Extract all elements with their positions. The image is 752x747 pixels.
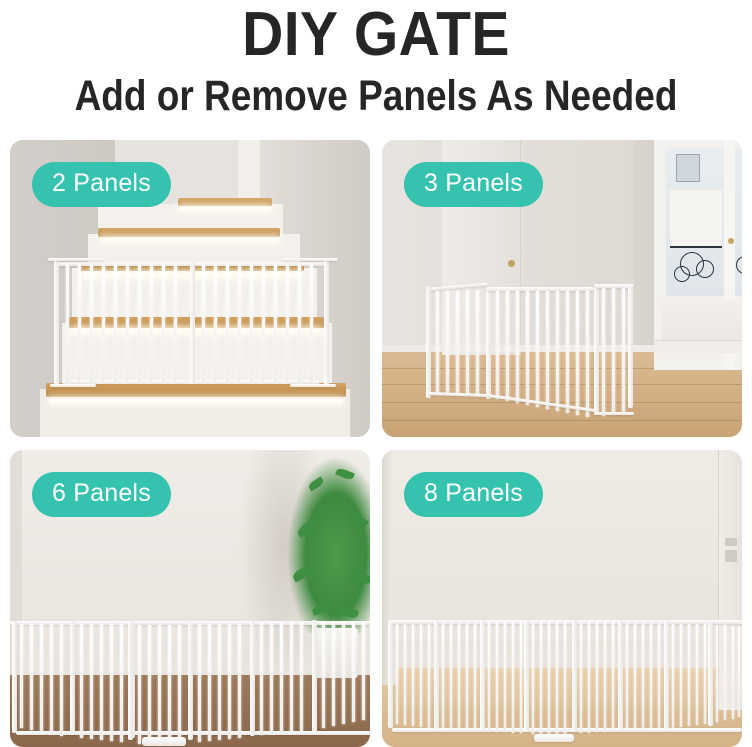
gate-spindle [420, 624, 422, 727]
gate-spindle [262, 264, 265, 382]
gate-spindle [622, 288, 625, 412]
photo-6-panels: 6 Panels [10, 450, 370, 747]
gate-post-right [628, 286, 633, 408]
gate-spindle [506, 291, 509, 401]
gate-post-2 [434, 621, 439, 729]
gate-spindle [202, 264, 205, 382]
stair-nosing-2 [98, 228, 280, 237]
gate-spindle [436, 291, 439, 395]
gate-spindle [40, 624, 43, 732]
gate-door-post-left [524, 620, 529, 732]
stair-nosing-1 [178, 198, 272, 206]
gate-spindle [102, 264, 105, 382]
header: DIY GATE Add or Remove Panels As Needed [0, 0, 752, 128]
gate-spindle [300, 623, 303, 731]
safety-gate-6-panels [10, 615, 370, 747]
gate-mount-foot-right [290, 384, 336, 387]
gate-post-center [190, 262, 195, 384]
gate-mount-arm-right [282, 258, 338, 261]
stair-light-2 [102, 238, 278, 241]
gate-spindle [672, 624, 674, 728]
gate-spindle [634, 623, 636, 730]
gate-spindle [540, 622, 542, 734]
building-across-street [670, 190, 722, 248]
gate-spindle [80, 624, 83, 738]
gate-spindle [214, 264, 217, 382]
gate-spindle [496, 622, 498, 732]
gate-spindle [650, 623, 652, 728]
gate-spindle [168, 625, 171, 745]
gate-spindle [404, 624, 406, 725]
safety-gate-8-panels [388, 610, 742, 745]
gate-spindle [516, 291, 519, 403]
wrought-iron-scroll [696, 260, 714, 278]
gate-spindle [446, 291, 449, 395]
wrought-iron-scroll [674, 266, 690, 282]
gate-spindle [162, 264, 165, 382]
gate-bottom-rail-right [594, 412, 634, 415]
door-latch-icon [725, 538, 737, 546]
gate-spindle [228, 624, 231, 739]
gate-spindle [556, 291, 559, 411]
window-sill [654, 340, 742, 353]
stair-light-landing [50, 399, 342, 403]
gate-mount-arm-left [48, 258, 104, 261]
gate-spindle [588, 622, 590, 733]
gate-bottom-rail-left [428, 392, 488, 397]
gate-spindle [110, 624, 113, 741]
gate-spindle [566, 291, 569, 413]
gate-post-left [54, 260, 59, 386]
gate-spindle [602, 288, 605, 416]
gate-spindle [442, 623, 444, 728]
distant-window [676, 154, 700, 182]
gate-spindle [286, 264, 289, 382]
photo-3-panels: 3 Panels [382, 140, 742, 437]
gate-spindle [488, 622, 490, 731]
gate-spindle [50, 624, 53, 734]
gate-door-post-right [572, 620, 577, 732]
gate-spindle [158, 625, 161, 745]
gate-spindle [716, 625, 718, 722]
gate-spindle [546, 291, 549, 409]
gate-spindle [270, 623, 273, 734]
gate-spindle [596, 622, 598, 732]
wrought-iron-scroll [736, 256, 742, 274]
page-subtitle: Add or Remove Panels As Needed [53, 68, 700, 120]
gate-spindle [322, 622, 325, 728]
photo-8-panels: 8 Panels [382, 450, 742, 747]
gate-spindle [458, 623, 460, 730]
badge-3-panels: 3 Panels [404, 162, 543, 207]
gate-spindle [466, 290, 469, 396]
gate-spindle [280, 623, 283, 733]
gate-spindle [556, 622, 558, 734]
gate-spindle [260, 623, 263, 735]
gate-spindle [226, 264, 229, 382]
gate-spindle [612, 622, 614, 731]
gate-post-5 [312, 620, 317, 732]
gate-post-1 [12, 621, 17, 733]
gate-spindle [126, 264, 129, 382]
safety-gate-2-panels [52, 252, 332, 397]
gate-spindle [696, 624, 698, 725]
gate-spindle [536, 291, 539, 407]
gate-spindle [174, 264, 177, 382]
gate-spindle [120, 624, 123, 742]
panel-configuration-grid: 2 Panels [10, 140, 742, 747]
gate-spindle [342, 622, 345, 724]
gate-spindle [732, 626, 734, 719]
gate-spindle [78, 264, 81, 382]
floor-seam [382, 420, 742, 421]
photo-2-panels: 2 Panels [10, 140, 370, 437]
gate-spindle [526, 291, 529, 405]
gate-spindle [580, 622, 582, 733]
gate-spindle [604, 622, 606, 732]
stair-light-1 [180, 207, 270, 210]
gate-spindle [290, 623, 293, 732]
gate-spindle [310, 264, 313, 382]
gate-latch[interactable] [142, 737, 186, 746]
gate-post-6 [664, 621, 669, 729]
gate-spindle [208, 624, 211, 741]
gate-post-hinge-2 [594, 286, 599, 414]
gate-spindle [724, 625, 726, 720]
gate-spindle [60, 624, 63, 736]
gate-spindle [576, 291, 579, 415]
gate-post-2 [70, 621, 75, 735]
gate-spindle [412, 624, 414, 726]
gate-spindle [30, 624, 33, 730]
window-glass-left [666, 148, 724, 296]
gate-spindle [474, 623, 476, 731]
gate-spindle [428, 624, 430, 728]
gate-spindle [456, 291, 459, 395]
gate-spindle [564, 622, 566, 734]
gate-spindle [138, 264, 141, 382]
gate-spindle [496, 291, 499, 399]
gate-post-7 [708, 622, 713, 726]
gate-spindle [680, 624, 682, 727]
gate-spindle [396, 624, 398, 724]
gate-post-left [426, 286, 431, 398]
door-knob-icon [508, 260, 515, 267]
gate-spindle [218, 624, 221, 740]
gate-post-4 [250, 621, 255, 736]
gate-latch[interactable] [534, 734, 574, 742]
gate-spindle [274, 264, 277, 382]
gate-spindle [504, 622, 506, 732]
gate-spindle [586, 291, 589, 417]
gate-spindle [238, 624, 241, 738]
gate-spindle [90, 624, 93, 739]
gate-spindle [100, 624, 103, 740]
window-glass-right [734, 148, 742, 296]
gate-door-post-left [128, 622, 133, 740]
gate-spindle [476, 290, 479, 396]
gate-spindle [298, 264, 301, 382]
badge-8-panels: 8 Panels [404, 472, 543, 517]
gate-bottom-rail-center [488, 394, 595, 412]
gate-door-post-right [188, 622, 193, 740]
gate-spindle [90, 264, 93, 382]
gate-spindle [20, 624, 23, 728]
gate-spindle [520, 622, 522, 733]
gate-spindle [352, 622, 355, 722]
gate-spindle [738, 626, 740, 717]
gate-post-3 [480, 620, 485, 730]
gate-spindle [688, 624, 690, 726]
gate-post-hinge-1 [486, 287, 491, 399]
gate-post-5 [618, 620, 623, 730]
gate-spindle [238, 264, 241, 382]
gate-spindle [704, 624, 706, 724]
gate-spindle [250, 264, 253, 382]
badge-2-panels: 2 Panels [32, 162, 171, 207]
gate-spindle [178, 625, 181, 744]
gate-spindle [626, 623, 628, 731]
gate-spindle [114, 264, 117, 382]
gate-spindle [512, 622, 514, 733]
gate-spindle [198, 624, 201, 742]
door-strike-plate-icon [725, 550, 737, 562]
gate-spindle [138, 625, 141, 744]
gate-mount-foot-left [50, 384, 96, 387]
badge-6-panels: 6 Panels [32, 472, 171, 517]
window-latch-icon [728, 238, 734, 244]
gate-spindle [332, 622, 335, 726]
gate-spindle [148, 625, 151, 745]
gate-bottom-rail [392, 728, 742, 732]
gate-spindle [362, 622, 365, 720]
gate-spindle [150, 264, 153, 382]
gate-spindle [548, 622, 550, 734]
gate-spindle [532, 622, 534, 734]
gate-post-1 [388, 622, 393, 728]
gate-spindle [450, 623, 452, 729]
french-door-window [654, 140, 742, 370]
gate-post-right [324, 260, 329, 386]
gate-spindle [642, 623, 644, 729]
gate-spindle [612, 288, 615, 414]
safety-gate-3-panels [422, 282, 632, 412]
page-title: DIY GATE [30, 2, 722, 68]
gate-spindle [66, 264, 69, 382]
balcony-rail [670, 246, 722, 248]
gate-spindle [466, 623, 468, 731]
gate-spindle [658, 623, 660, 728]
